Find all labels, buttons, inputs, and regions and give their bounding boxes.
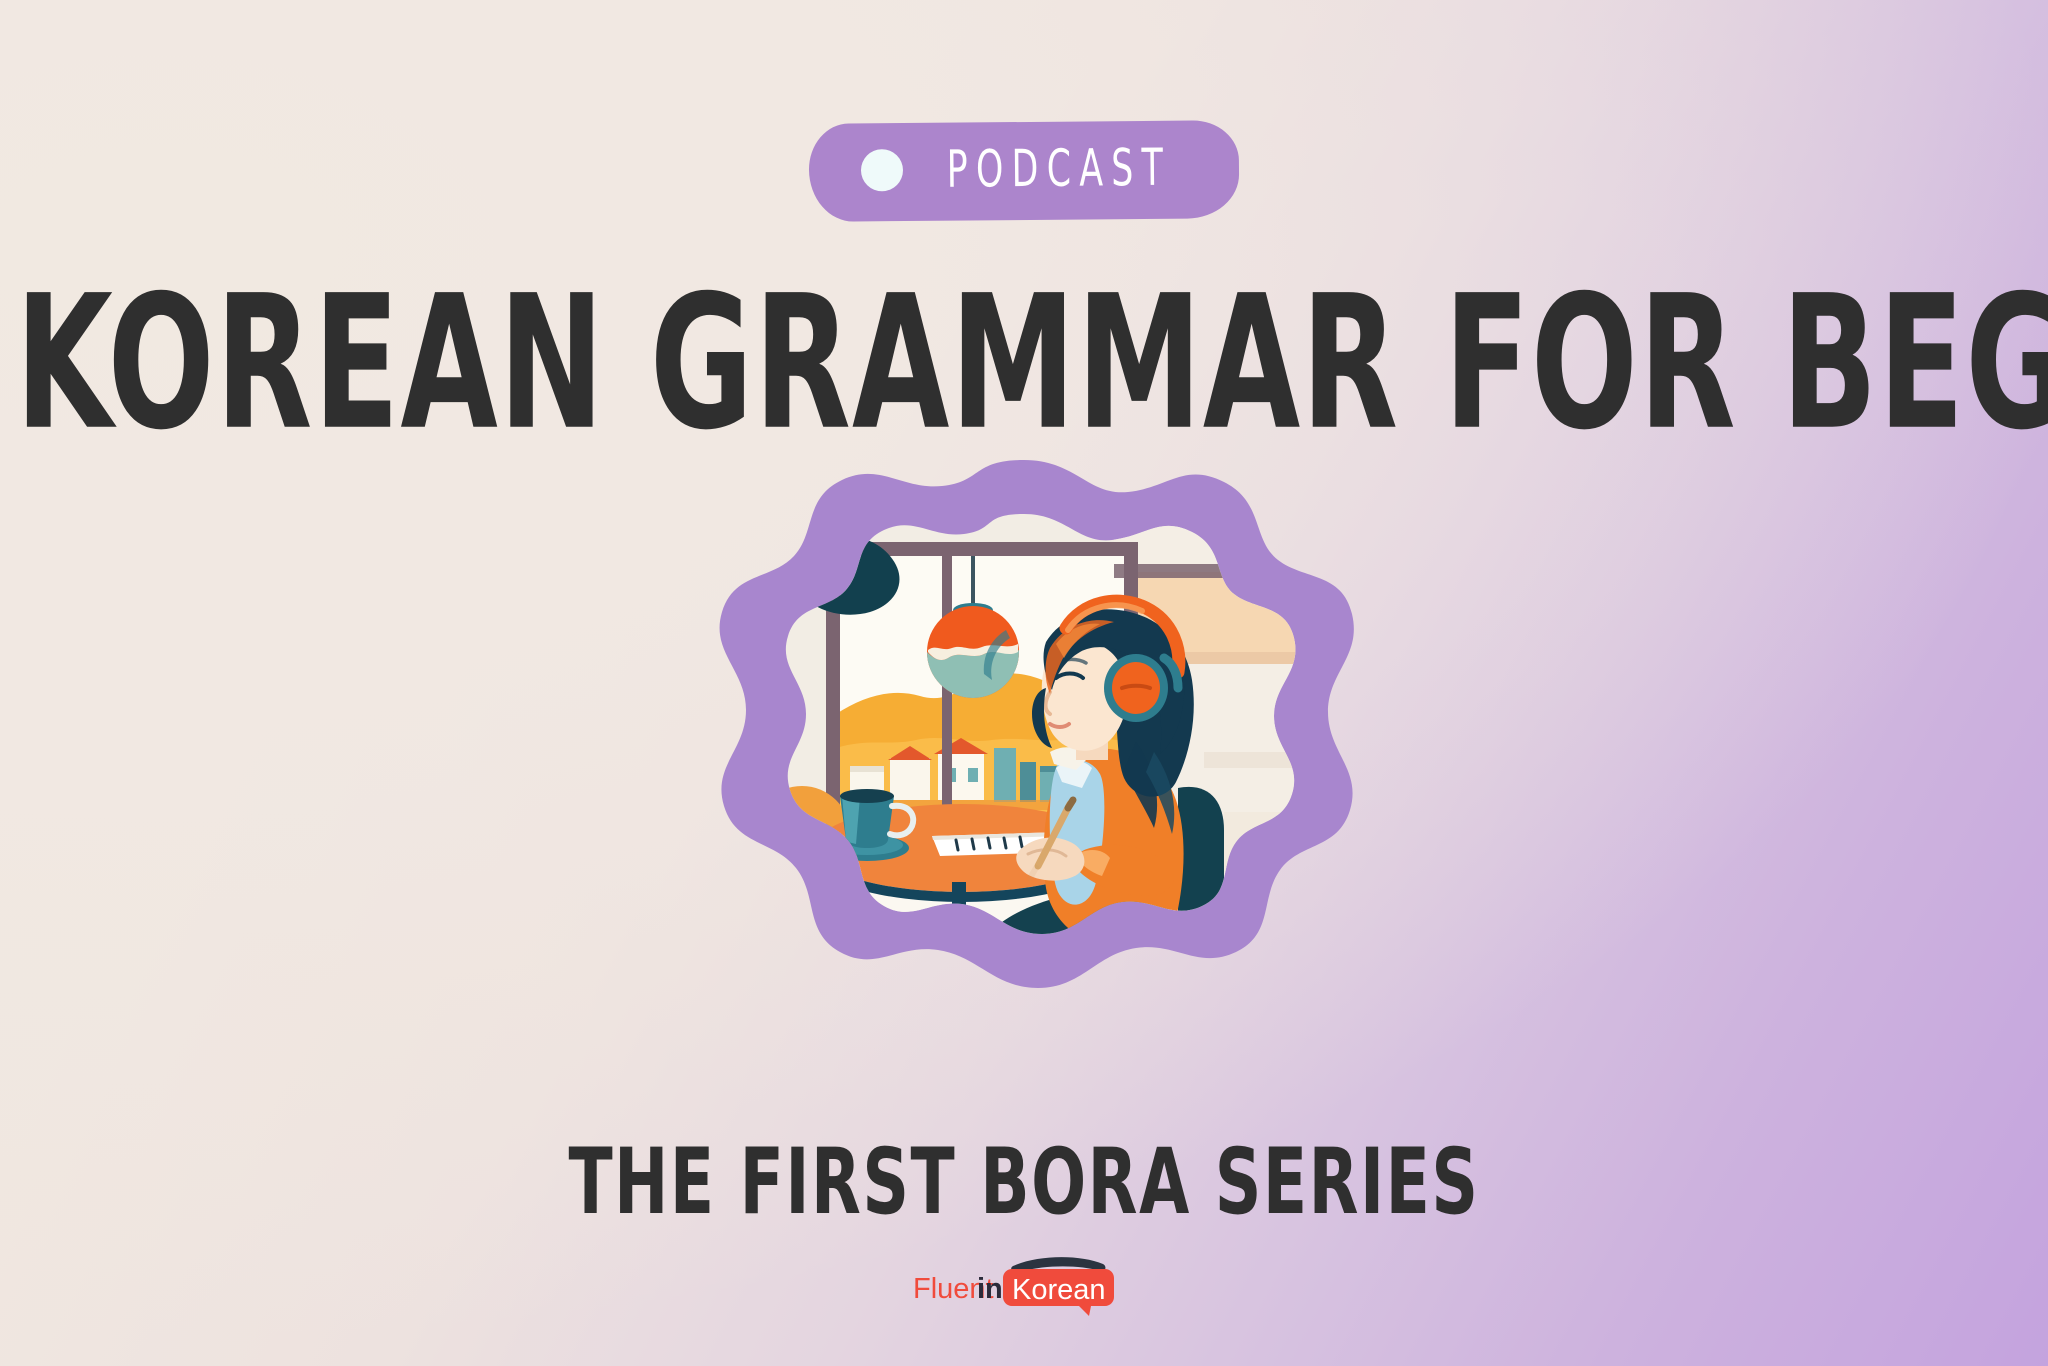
podcast-badge-label: PODCAST: [947, 142, 1172, 195]
fluent-in-korean-logo[interactable]: Fluent in Korean: [909, 1252, 1139, 1318]
record-dot-icon: [861, 149, 903, 191]
podcast-cover-canvas: PODCAST KOREAN GRAMMAR FOR BEGINNERS: [0, 0, 2048, 1366]
logo-word-korean: Korean: [1012, 1274, 1106, 1306]
brand-logo-container: Fluent in Korean: [0, 1252, 2048, 1318]
logo-word-in: in: [977, 1273, 1003, 1305]
artwork-container: [684, 452, 1364, 1072]
page-title: KOREAN GRAMMAR FOR BEGINNERS: [15, 272, 2032, 457]
podcast-badge-container: PODCAST: [0, 122, 2048, 220]
series-subtitle: THE FIRST BORA SERIES: [0, 1136, 2048, 1227]
podcast-badge[interactable]: PODCAST: [809, 120, 1240, 222]
girl-studying-with-headphones-illustration: [684, 452, 1364, 1072]
